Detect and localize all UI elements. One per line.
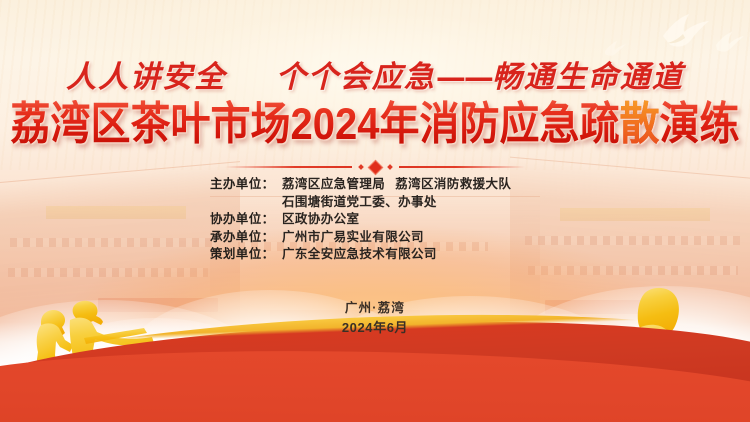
organizer-label: 承办单位： bbox=[210, 229, 282, 247]
divider-line-right bbox=[399, 166, 526, 167]
organizer-row-coorganizer: 协办单位： 区政协办公室 bbox=[210, 211, 540, 229]
diamond-divider-ornament bbox=[225, 160, 525, 174]
organizer-row-planner: 策划单位： 广东全安应急技术有限公司 bbox=[210, 246, 540, 264]
dove-icon bbox=[655, 10, 717, 52]
event-place: 广州·荔湾 bbox=[0, 299, 750, 318]
title-lead: 荔湾区茶叶市场2024年消防应急疏 bbox=[11, 100, 620, 149]
title-highlight: 散 bbox=[619, 100, 659, 149]
slogan-dash: —— bbox=[436, 60, 492, 95]
organizers-block: 主办单位： 荔湾区应急管理局荔湾区消防救援大队 主办单位： 石围塘街道党工委、办… bbox=[0, 176, 750, 264]
divider-line-left bbox=[225, 166, 352, 167]
organizer-row-host-continued: 主办单位： 石围塘街道党工委、办事处 bbox=[210, 194, 540, 212]
organizer-value-b: 荔湾区消防救援大队 bbox=[395, 177, 511, 191]
event-date: 2024年6月 bbox=[0, 318, 750, 337]
organizer-row-host: 主办单位： 荔湾区应急管理局荔湾区消防救援大队 bbox=[210, 176, 540, 194]
slogan-line: 人人讲安全 个个会应急——畅通生命通道 bbox=[0, 52, 750, 96]
organizer-row-undertaker: 承办单位： 广州市广易实业有限公司 bbox=[210, 229, 540, 247]
organizer-label: 策划单位： bbox=[210, 246, 282, 264]
organizer-value: 区政协办公室 bbox=[282, 211, 359, 229]
divider-gem-icon bbox=[367, 159, 383, 175]
dove-icon bbox=[712, 30, 746, 54]
page-title: 荔湾区茶叶市场2024年消防应急疏散演练 bbox=[0, 100, 750, 149]
divider-dot bbox=[358, 164, 364, 170]
organizer-value: 广东全安应急技术有限公司 bbox=[282, 246, 437, 264]
organizer-value-a: 荔湾区应急管理局 bbox=[282, 177, 385, 191]
organizer-value-continuation: 石围塘街道党工委、办事处 bbox=[282, 194, 437, 212]
divider-dot bbox=[387, 164, 393, 170]
slogan-part-1: 人人讲安全 bbox=[66, 60, 226, 95]
organizer-value: 广州市广易实业有限公司 bbox=[282, 229, 424, 247]
organizer-value: 荔湾区应急管理局荔湾区消防救援大队 bbox=[282, 176, 511, 194]
poster-canvas: 人人讲安全 个个会应急——畅通生命通道 荔湾区茶叶市场2024年消防应急疏散演练… bbox=[0, 0, 750, 422]
slogan-part-2: 个个会应急 bbox=[276, 60, 436, 95]
organizer-label: 协办单位： bbox=[210, 211, 282, 229]
slogan-part-3: 畅通生命通道 bbox=[492, 60, 684, 95]
organizer-label: 主办单位： bbox=[210, 176, 282, 194]
title-tail: 演练 bbox=[659, 100, 739, 149]
